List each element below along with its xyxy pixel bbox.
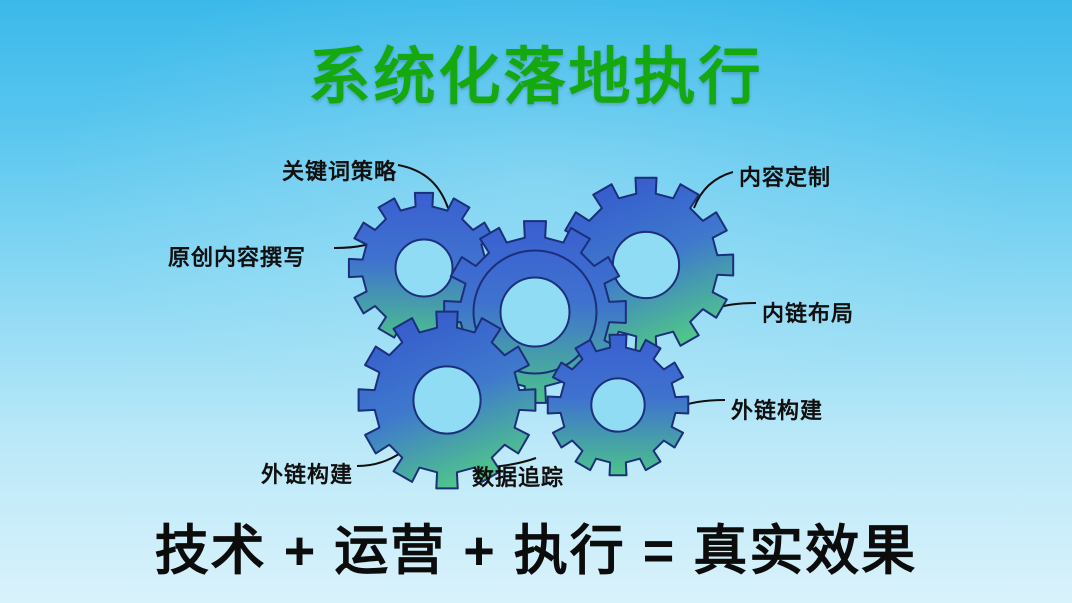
gear-lower-left-hub-hole: [413, 366, 480, 433]
label-content-custom: 内容定制: [739, 160, 831, 192]
leader-content-custom: [694, 172, 733, 208]
gear-layer: [349, 178, 733, 489]
label-external-link-left: 外链构建: [261, 457, 353, 489]
gear-lower-right-hub-hole: [591, 378, 644, 431]
gear-upper-left-hub-hole: [395, 239, 452, 296]
slide-canvas: 系统化落地执行 关键词策略 内容定制: [0, 0, 1072, 603]
label-internal-link: 内链布局: [762, 296, 854, 328]
gear-center-hub-hole: [501, 278, 570, 347]
label-data-tracking: 数据追踪: [472, 460, 564, 492]
label-original-writing: 原创内容撰写: [168, 240, 306, 272]
gear-upper-right-hub-hole: [613, 232, 679, 298]
page-footer: 技术 + 运营 + 执行 = 真实效果: [0, 506, 1072, 585]
label-keyword-strategy: 关键词策略: [282, 154, 397, 186]
label-external-link-right: 外链构建: [731, 393, 823, 425]
